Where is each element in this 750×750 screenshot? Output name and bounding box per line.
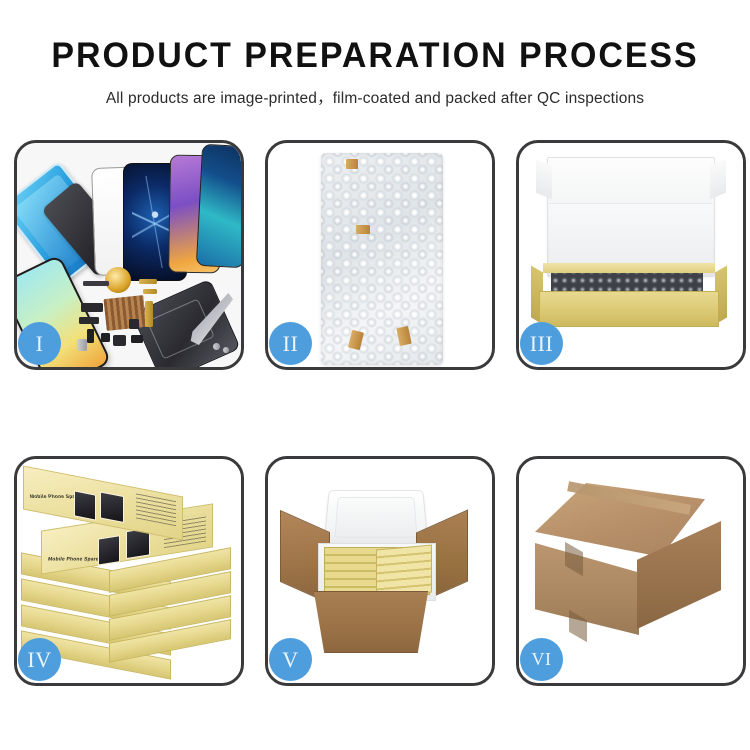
step-badge-2: II (269, 322, 312, 365)
step-panel-2[interactable]: II (265, 140, 495, 370)
step-panel-4[interactable]: Mobile Phone Spare Parts Mobile Phone Sp… (14, 456, 244, 686)
step-panel-1[interactable]: I (14, 140, 244, 370)
spare-part (223, 347, 229, 353)
box-spec-lines (136, 492, 176, 526)
spare-part (83, 281, 109, 286)
box-window (100, 491, 124, 523)
spare-part (113, 335, 126, 346)
box-rim (543, 263, 715, 273)
step-badge-1: I (18, 322, 61, 365)
process-steps-grid: I II III (14, 140, 736, 686)
coil-part-image (105, 267, 131, 293)
yellow-boxes-row (376, 545, 432, 598)
step-image-4: Mobile Phone Spare Parts Mobile Phone Sp… (17, 459, 241, 683)
box-front-panel (539, 291, 719, 327)
step-panel-5[interactable]: V (265, 456, 495, 686)
spare-part (145, 301, 153, 327)
step-panel-6[interactable]: VI (516, 456, 746, 686)
carton-front-panel (306, 591, 436, 653)
spare-part (129, 319, 139, 329)
page-header: PRODUCT PREPARATION PROCESS All products… (0, 0, 750, 108)
teal-phone-image (196, 144, 241, 268)
spare-part (101, 333, 110, 342)
spare-part (77, 339, 87, 351)
step-panel-3[interactable]: III (516, 140, 746, 370)
page-subtitle: All products are image-printed，film-coat… (0, 86, 750, 108)
step-image-5: V (268, 459, 492, 683)
spare-part (131, 335, 143, 343)
foam-box-lid-image (323, 490, 429, 549)
chip-board-image (103, 295, 146, 331)
carton-left-face (535, 543, 639, 635)
tape-piece (356, 225, 370, 234)
bubble-wrap-image (321, 153, 443, 365)
foam-insert-image (549, 203, 713, 269)
step-image-6: VI (519, 459, 743, 683)
spare-part (143, 289, 157, 294)
spare-part (213, 343, 220, 350)
box-window (98, 535, 120, 565)
spare-part (87, 329, 94, 343)
page-title: PRODUCT PREPARATION PROCESS (11, 38, 739, 73)
box-window (74, 490, 96, 520)
step-badge-3: III (520, 322, 563, 365)
tape-piece (346, 159, 358, 169)
spare-part (139, 279, 157, 284)
step-image-2: II (268, 143, 492, 367)
step-badge-6: VI (520, 638, 563, 681)
spare-part (79, 317, 99, 324)
step-image-1: I (17, 143, 241, 367)
step-image-3: III (519, 143, 743, 367)
step-badge-5: V (269, 638, 312, 681)
step-badge-4: IV (18, 638, 61, 681)
spare-part (81, 303, 103, 312)
